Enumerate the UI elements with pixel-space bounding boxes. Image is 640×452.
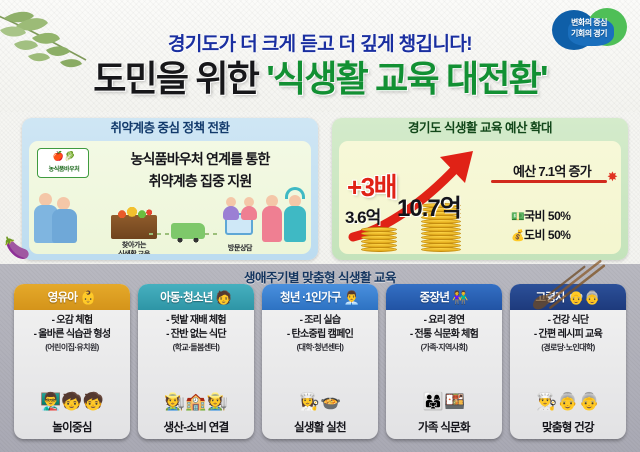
eggplant-icon: 🍆 xyxy=(4,238,30,259)
panel-left-line-2: 취약계층 집중 지원 xyxy=(95,171,305,191)
card-youth-single[interactable]: 청년 ·1인가구 👨‍💼 - 조리 실습 - 탄소중립 캠페인 (대학·청년센터… xyxy=(262,284,378,439)
caption-visiting-education: 찾아가는 식생활 교육 xyxy=(103,242,165,254)
card-infant[interactable]: 영유아 👶 - 오감 체험 - 올바른 식습관 형성 (어린이집·유치원) 👨‍… xyxy=(14,284,130,439)
poster-root: 변화의 중심 기회의 경기 경기도가 더 크게 듣고 더 깊게 챙깁니다! 도민… xyxy=(0,0,640,452)
panel-right-heading: 경기도 식생활 교육 예산 확대 xyxy=(332,118,628,139)
card-title-child-youth: 아동·청소년 xyxy=(160,289,213,305)
panel-budget-expansion: 경기도 식생활 교육 예산 확대 +3배 3.6억 xyxy=(332,118,628,260)
family-figure-right xyxy=(51,197,79,243)
bar-value-before: 3.6억 xyxy=(345,203,380,228)
bullet-sub: (가족·지역사회) xyxy=(391,342,497,354)
header-subtitle: 경기도가 더 크게 듣고 더 깊게 챙깁니다! xyxy=(0,29,640,56)
bullet-2: - 올바른 식습관 형성 xyxy=(19,328,125,342)
sparkle-icon: ✸ xyxy=(607,169,618,185)
money-bill-icon: 💵 xyxy=(511,210,524,223)
card-art-youth-single: 👩‍🍳🍲 xyxy=(270,364,370,412)
card-header-infant: 영유아 👶 xyxy=(14,284,130,310)
youth-icon: 🧑 xyxy=(216,291,232,304)
fund-province-row: 💰도비 50% xyxy=(511,226,570,243)
voucher-badge-label: 농식품바우처 xyxy=(38,164,90,173)
office-worker-icon: 👨‍💼 xyxy=(344,291,360,304)
logo-line-1: 변화의 중심 xyxy=(546,17,632,28)
card-art-infant: 👨‍🏫🧒🧒 xyxy=(22,364,122,412)
coin-stack-before xyxy=(361,226,397,252)
panel-left-line-1: 농식품바우처 연계를 통한 xyxy=(95,149,305,169)
couple-icon: 👫 xyxy=(452,291,468,304)
card-footer-middle-age: 가족 식문화 xyxy=(386,419,502,435)
food-box-icon xyxy=(111,215,157,239)
infant-icon: 👶 xyxy=(80,291,96,304)
bullet-sub: (대학·청년센터) xyxy=(267,342,373,354)
card-child-youth[interactable]: 아동·청소년 🧑 - 텃밭 재배 체험 - 잔반 없는 식단 (학교·돌봄센터)… xyxy=(138,284,254,439)
card-bullets-youth-single: - 조리 실습 - 탄소중립 캠페인 (대학·청년센터) xyxy=(267,314,373,354)
citizen-figure-teal xyxy=(283,189,307,243)
card-footer-child-youth: 생산-소비 연결 xyxy=(138,419,254,435)
title-part-black: 도민을 위한 xyxy=(93,58,258,99)
consult-figure-b xyxy=(241,197,257,219)
bullet-1: - 오감 체험 xyxy=(19,314,125,328)
card-title-infant: 영유아 xyxy=(48,289,78,305)
page-title: 도민을 위한 '식생활 교육 대전환' xyxy=(0,57,640,101)
card-header-youth-single: 청년 ·1인가구 👨‍💼 xyxy=(262,284,378,310)
bullet-1: - 조리 실습 xyxy=(267,314,373,328)
budget-increase-note: 예산 7.1억 증가 xyxy=(487,161,617,180)
bar-value-after: 10.7억 xyxy=(397,188,461,223)
cutlery-mat-decoration xyxy=(520,250,640,360)
caption-a-line1: 찾아가는 xyxy=(103,242,165,251)
bullet-2: - 탄소중립 캠페인 xyxy=(267,328,373,342)
card-bullets-child-youth: - 텃밭 재배 체험 - 잔반 없는 식단 (학교·돌봄센터) xyxy=(143,314,249,354)
bullet-2: - 잔반 없는 식단 xyxy=(143,328,249,342)
card-middle-age[interactable]: 중장년 👫 - 요리 경연 - 전통 식문화 체험 (가족·지역사회) 👨‍👩‍… xyxy=(386,284,502,439)
fund-province-label: 도비 50% xyxy=(524,228,570,242)
bullet-1: - 텃밭 재배 체험 xyxy=(143,314,249,328)
delivery-truck-icon xyxy=(171,223,205,239)
panel-left-heading: 취약계층 중심 정책 전환 xyxy=(22,118,318,139)
card-art-child-youth: 🧑‍🌾🏫🧑‍🌾 xyxy=(146,364,246,412)
increase-underline xyxy=(491,180,607,183)
card-bullets-middle-age: - 요리 경연 - 전통 식문화 체험 (가족·지역사회) xyxy=(391,314,497,354)
money-bag-icon: 💰 xyxy=(511,229,524,242)
bullet-sub: (학교·돌봄센터) xyxy=(143,342,249,354)
citizen-figure-pink xyxy=(261,195,283,243)
logo-line-2: 기회의 경기 xyxy=(546,28,632,39)
bullet-2: - 전통 식문화 체험 xyxy=(391,328,497,342)
voucher-badge-icon: 🍎🥬 xyxy=(38,152,90,161)
multiplier-label: +3배 xyxy=(347,167,396,204)
card-art-elderly: 👨‍🍳👵👵 xyxy=(518,364,618,412)
caption-a-line2: 식생활 교육 xyxy=(103,251,165,255)
header-section: 변화의 중심 기회의 경기 경기도가 더 크게 듣고 더 깊게 챙깁니다! 도민… xyxy=(0,0,640,112)
card-footer-infant: 놀이중심 xyxy=(14,419,130,435)
card-footer-elderly: 맞춤형 건강 xyxy=(510,419,626,435)
consult-figure-a xyxy=(223,197,239,219)
bullet-1: - 요리 경연 xyxy=(391,314,497,328)
card-title-middle-age: 중장년 xyxy=(420,289,450,305)
fund-national-row: 💵국비 50% xyxy=(511,207,570,224)
fund-national-label: 국비 50% xyxy=(524,209,570,223)
card-footer-youth-single: 실생활 실천 xyxy=(262,419,378,435)
panel-left-body: 🍎🥬 농식품바우처 농식품바우처 연계를 통한 취약계층 집중 지원 xyxy=(29,141,311,254)
card-header-child-youth: 아동·청소년 🧑 xyxy=(138,284,254,310)
card-art-middle-age: 👨‍👩‍👧🍱 xyxy=(394,364,494,412)
bullet-sub: (어린이집·유치원) xyxy=(19,342,125,354)
caption-home-consult: 방문상담 xyxy=(211,245,269,254)
budget-chart: +3배 3.6억 10.7억 예산 7.1억 증가 ✸ xyxy=(339,141,621,254)
card-bullets-infant: - 오감 체험 - 올바른 식습관 형성 (어린이집·유치원) xyxy=(19,314,125,354)
panel-vulnerable-policy: 취약계층 중심 정책 전환 🍎🥬 농식품바우처 농식품바우처 연계를 통한 취약… xyxy=(22,118,318,260)
card-title-youth-single: 청년 ·1인가구 xyxy=(280,289,341,305)
card-header-middle-age: 중장년 👫 xyxy=(386,284,502,310)
title-part-green: '식생활 교육 대전환' xyxy=(266,58,547,99)
voucher-badge: 🍎🥬 농식품바우처 xyxy=(37,148,89,178)
